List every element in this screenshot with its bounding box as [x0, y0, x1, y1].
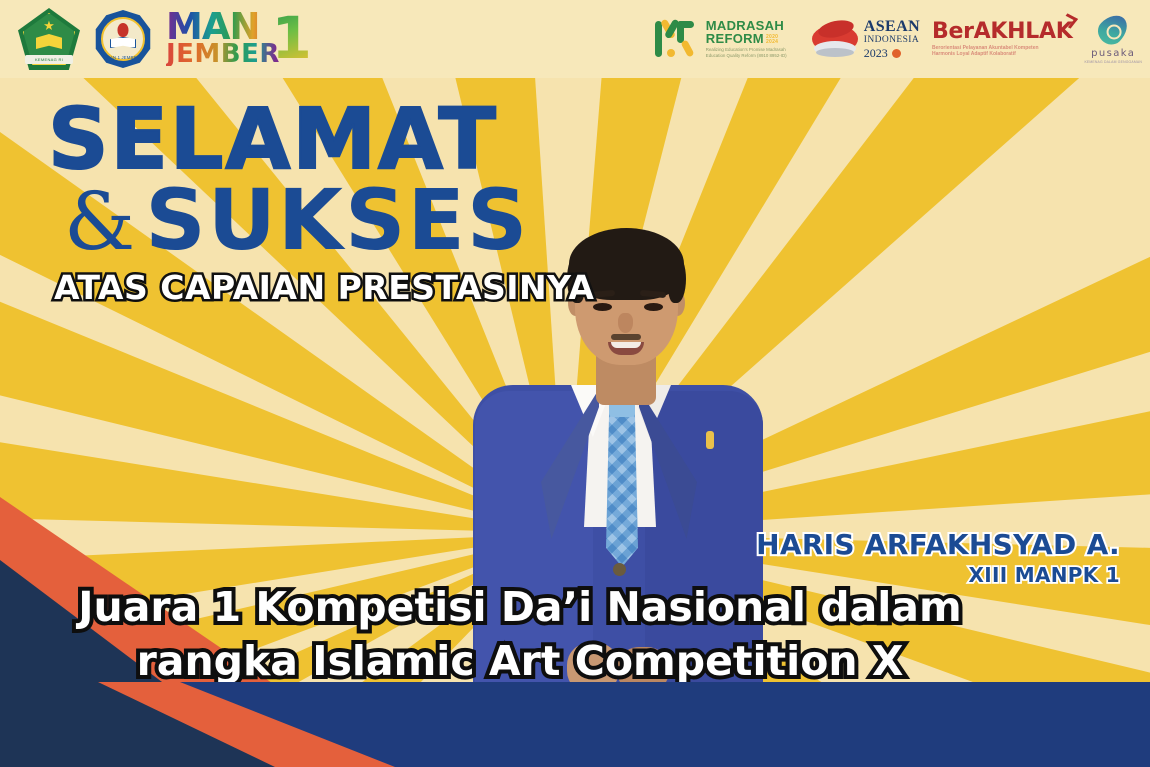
asean-gem-icon	[892, 49, 901, 58]
wordmark-jember: JEMBER	[166, 42, 280, 66]
man1-jember-wordmark: MAN JEMBER 1	[166, 8, 280, 70]
pusaka-logo: pusaka KEMENAG DALAM GENGGAMAN	[1084, 14, 1142, 64]
header-left-logos: ★ KEMENAG RI MAN 1 JEMBER MAN JEMBER 1	[18, 0, 280, 78]
achievement-block: Juara 1 Kompetisi Da’i Nasional dalam ra…	[0, 580, 1040, 688]
photo-moustache	[611, 334, 641, 340]
title-selamat: SELAMAT	[48, 100, 594, 178]
photo-eye-right	[644, 303, 663, 311]
photo-eye-left	[593, 303, 612, 311]
asean-year-row: 2023	[864, 47, 920, 59]
photo-nose	[618, 313, 633, 333]
flame-icon	[118, 23, 129, 37]
wordmark-stack: MAN JEMBER 1	[166, 12, 280, 66]
student-name-block: HARIS ARFAKHSYAD A. XIII MANPK 1	[756, 528, 1120, 587]
header-band: ★ KEMENAG RI MAN 1 JEMBER MAN JEMBER 1	[0, 0, 1150, 78]
photo-teeth	[611, 342, 641, 348]
photo-jacket-button	[613, 563, 626, 576]
mr-years: 2020 2024	[766, 35, 778, 45]
asean-emblem-icon	[810, 17, 860, 61]
berakhlak-subtitle-2: Harmonis Loyal Adaptif Kolaboratif	[932, 51, 1072, 58]
asean-text-block: ASEAN INDONESIA 2023	[864, 19, 920, 60]
footer-corner-shapes	[0, 682, 560, 767]
pusaka-title: pusaka	[1084, 48, 1142, 59]
title-sukses: SUKSES	[145, 182, 529, 258]
student-name: HARIS ARFAKHSYAD A.	[756, 528, 1120, 561]
seal-label: MAN 1 JEMBER	[94, 55, 152, 60]
star-icon: ★	[43, 19, 55, 32]
mr-year-end: 2024	[766, 40, 778, 45]
asean-subtitle: INDONESIA	[864, 36, 920, 46]
header-right-logos: MADRASAH REFORM 2020 2024 Realizing Educ…	[653, 0, 1142, 78]
title-block: SELAMAT & SUKSES ATAS CAPAIAN PRESTASINY…	[48, 100, 594, 307]
title-row-two: & SUKSES	[48, 182, 594, 258]
mr-title-reform: REFORM 2020 2024	[706, 32, 798, 45]
mr-subtitle: Realizing Education's Promise Madrasah E…	[706, 47, 798, 58]
wordmark-man: MAN	[166, 12, 280, 42]
photo-necktie	[606, 407, 638, 567]
title-ampersand: &	[64, 186, 135, 258]
mr-text-block: MADRASAH REFORM 2020 2024 Realizing Educ…	[706, 19, 798, 58]
mr-reform-word: REFORM	[706, 32, 764, 45]
achievement-line-1: Juara 1 Kompetisi Da’i Nasional dalam	[0, 580, 1040, 634]
achievement-line-2: rangka Islamic Art Competition X	[0, 634, 1040, 688]
kemenag-ribbon: KEMENAG RI	[25, 55, 73, 64]
photo-hair-side-right	[668, 255, 686, 303]
asean-indonesia-logo: ASEAN INDONESIA 2023	[810, 17, 920, 61]
wordmark-numeral: 1	[272, 9, 312, 67]
photo-lapel-pin	[706, 431, 714, 449]
title-subtitle: ATAS CAPAIAN PRESTASINYA	[54, 268, 594, 307]
man1-jember-seal: MAN 1 JEMBER	[94, 10, 152, 68]
madrasah-reform-logo: MADRASAH REFORM 2020 2024 Realizing Educ…	[653, 19, 798, 59]
water-drop-icon	[1093, 9, 1133, 49]
pusaka-subtitle: KEMENAG DALAM GENGGAMAN	[1084, 60, 1142, 64]
mr-monogram-icon	[653, 19, 701, 59]
berakhlak-logo: BerAKHLAK Berorientasi Pelayanan Akuntab…	[932, 21, 1072, 58]
asean-title: ASEAN	[864, 19, 920, 35]
asean-year: 2023	[864, 47, 888, 59]
berakhlak-title: BerAKHLAK	[932, 21, 1072, 43]
congratulations-poster: SELAMAT & SUKSES ATAS CAPAIAN PRESTASINY…	[0, 0, 1150, 767]
footer-corner-overlay	[0, 682, 560, 767]
kemenag-logo: ★ KEMENAG RI	[18, 8, 80, 70]
